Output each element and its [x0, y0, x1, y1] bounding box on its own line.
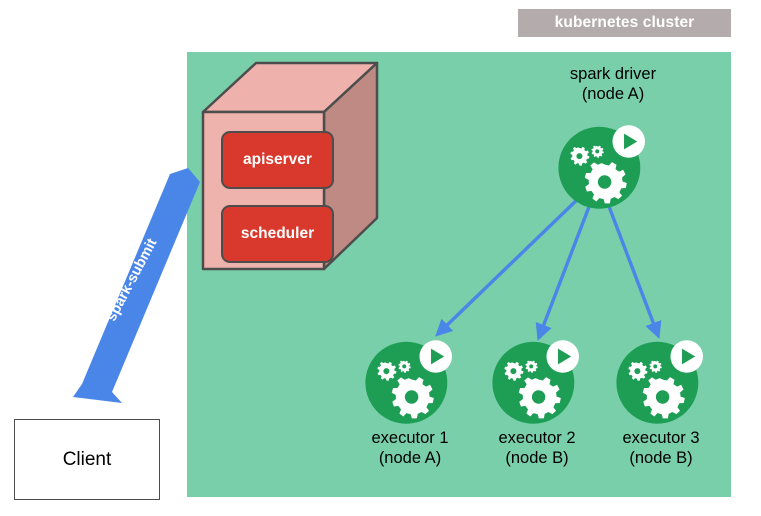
executor-2-node-icon[interactable]: [484, 325, 589, 430]
apiserver-label: apiserver: [243, 151, 312, 169]
node-play-icon: [419, 340, 452, 373]
spark-submit-arrow-shape: [73, 168, 200, 403]
executor-3-node-icon[interactable]: [608, 325, 713, 430]
diagram-canvas: kubernetes cluster spark-submit apiserve…: [0, 0, 761, 516]
client-box[interactable]: Client: [14, 419, 160, 500]
node-play-icon: [612, 125, 645, 158]
apiserver-component[interactable]: apiserver: [221, 131, 334, 189]
spark-driver-node-icon[interactable]: [550, 110, 655, 215]
client-label: Client: [63, 449, 112, 471]
executor-1-node-icon[interactable]: [357, 325, 462, 430]
scheduler-component[interactable]: scheduler: [221, 205, 334, 263]
kubernetes-cluster-banner-label: kubernetes cluster: [555, 14, 695, 32]
node-play-icon: [670, 340, 703, 373]
spark-submit-arrow: [60, 160, 220, 410]
node-play-icon: [546, 340, 579, 373]
kubernetes-cluster-banner: kubernetes cluster: [518, 9, 731, 37]
scheduler-label: scheduler: [241, 225, 314, 243]
